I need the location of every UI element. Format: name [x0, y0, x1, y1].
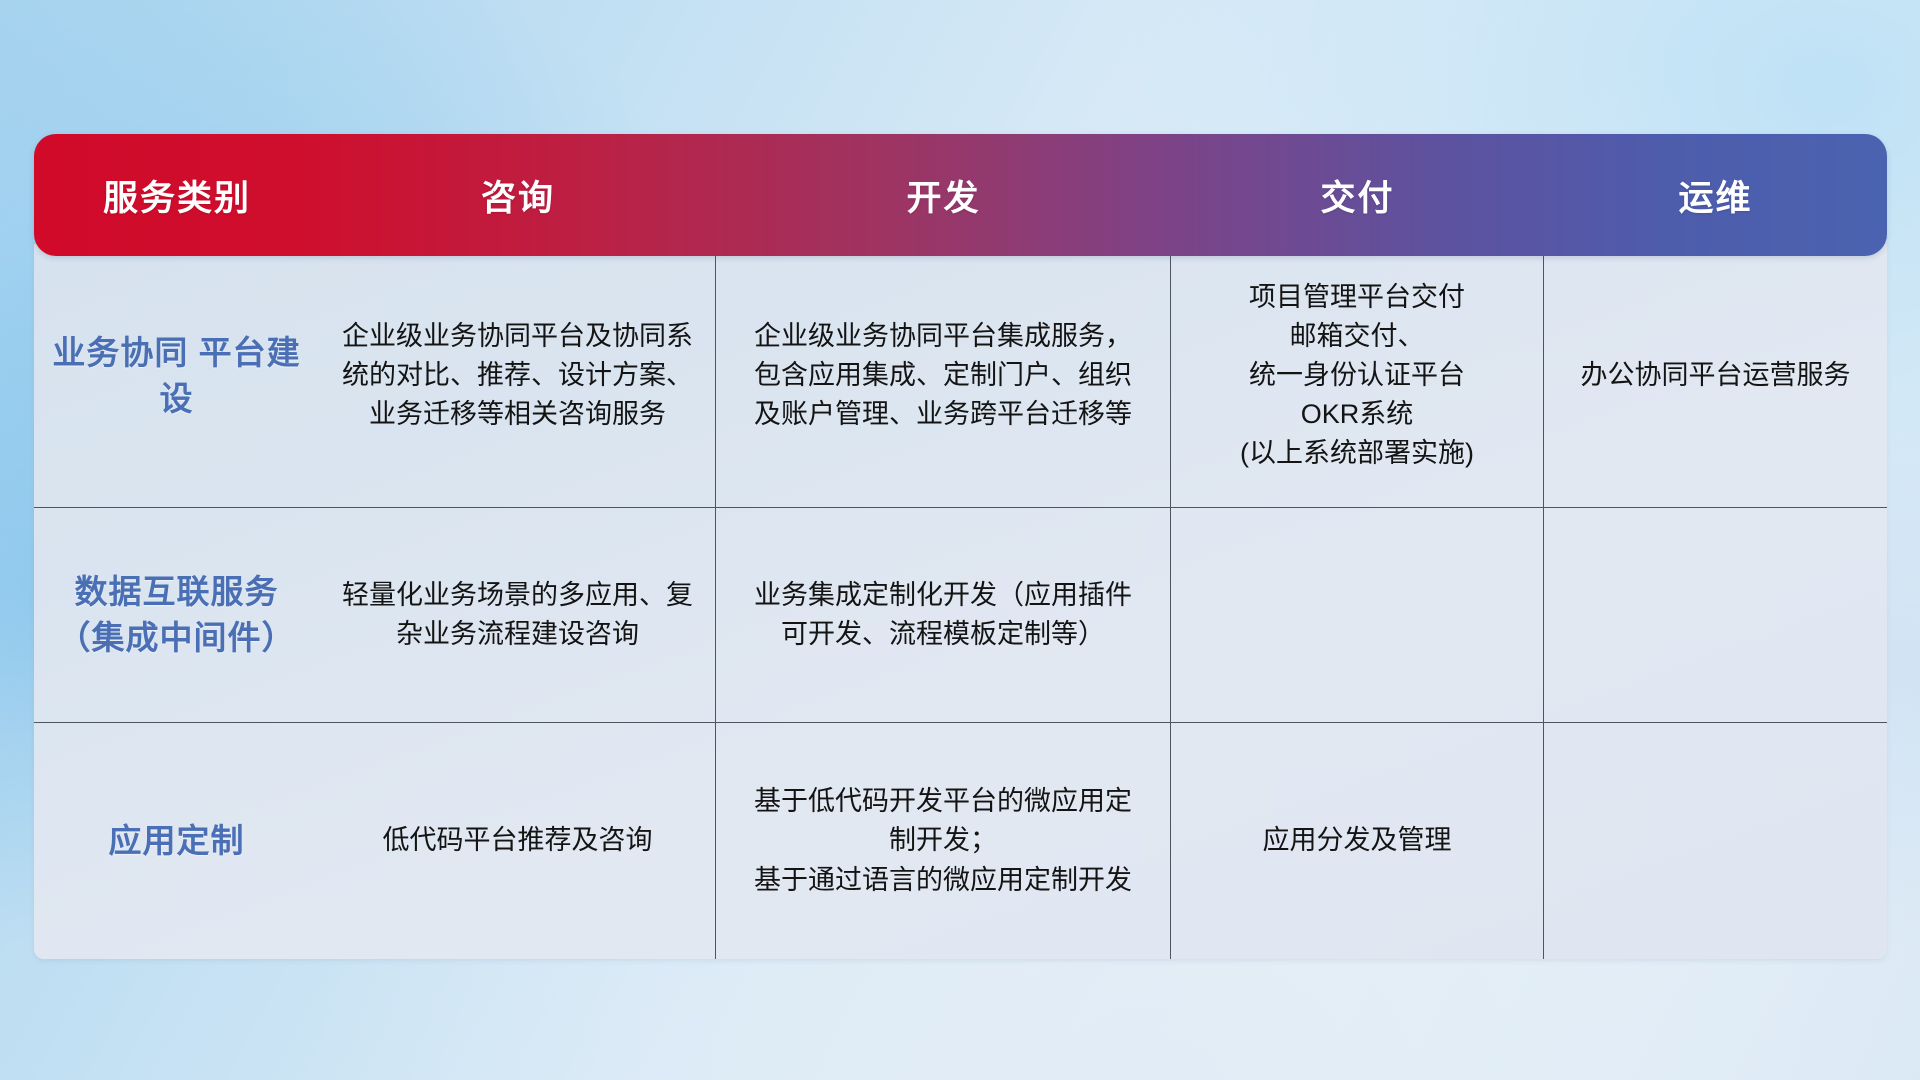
row-category-cell: 应用定制	[34, 723, 320, 959]
table-row: 业务协同 平台建设 企业级业务协同平台及协同系 统的对比、推荐、设计方案、 业务…	[34, 244, 1887, 508]
cell-consulting: 轻量化业务场景的多应用、复 杂业务流程建设咨询	[320, 508, 716, 722]
row-category-cell: 数据互联服务 （集成中间件）	[34, 508, 320, 722]
cell-text: 轻量化业务场景的多应用、复 杂业务流程建设咨询	[342, 576, 693, 654]
cell-delivery: 应用分发及管理	[1171, 723, 1544, 959]
row-category-label: 应用定制	[109, 818, 245, 864]
row-category-label: 业务协同 平台建设	[46, 330, 307, 421]
cell-text: 业务集成定制化开发（应用插件 可开发、流程模板定制等）	[754, 576, 1132, 654]
table-row: 数据互联服务 （集成中间件） 轻量化业务场景的多应用、复 杂业务流程建设咨询 业…	[34, 508, 1887, 723]
header-cell-consulting: 咨询	[320, 170, 716, 221]
cell-text: 应用分发及管理	[1263, 821, 1452, 860]
cell-text: 办公协同平台运营服务	[1581, 356, 1851, 395]
cell-consulting: 低代码平台推荐及咨询	[320, 723, 716, 959]
cell-delivery	[1171, 508, 1544, 722]
cell-delivery: 项目管理平台交付 邮箱交付、 统一身份认证平台 OKR系统 (以上系统部署实施)	[1171, 244, 1544, 507]
cell-operations	[1544, 723, 1887, 959]
table-body: 业务协同 平台建设 企业级业务协同平台及协同系 统的对比、推荐、设计方案、 业务…	[34, 244, 1887, 959]
header-cell-development: 开发	[716, 170, 1171, 221]
cell-text: 项目管理平台交付 邮箱交付、 统一身份认证平台 OKR系统 (以上系统部署实施)	[1240, 278, 1474, 474]
cell-text: 基于低代码开发平台的微应用定 制开发； 基于通过语言的微应用定制开发	[754, 782, 1132, 899]
cell-text: 低代码平台推荐及咨询	[383, 821, 653, 860]
table-row: 应用定制 低代码平台推荐及咨询 基于低代码开发平台的微应用定 制开发； 基于通过…	[34, 723, 1887, 959]
row-category-label: 数据互联服务 （集成中间件）	[46, 569, 307, 660]
table-header-row: 服务类别 咨询 开发 交付 运维	[34, 134, 1887, 256]
cell-development: 企业级业务协同平台集成服务， 包含应用集成、定制门户、组织 及账户管理、业务跨平…	[716, 244, 1171, 507]
header-cell-delivery: 交付	[1171, 170, 1544, 221]
cell-text: 企业级业务协同平台及协同系 统的对比、推荐、设计方案、 业务迁移等相关咨询服务	[342, 317, 693, 434]
header-cell-operations: 运维	[1544, 170, 1887, 221]
cell-operations: 办公协同平台运营服务	[1544, 244, 1887, 507]
cell-development: 业务集成定制化开发（应用插件 可开发、流程模板定制等）	[716, 508, 1171, 722]
row-category-cell: 业务协同 平台建设	[34, 244, 320, 507]
cell-operations	[1544, 508, 1887, 722]
header-cell-service-category: 服务类别	[34, 170, 320, 221]
cell-consulting: 企业级业务协同平台及协同系 统的对比、推荐、设计方案、 业务迁移等相关咨询服务	[320, 244, 716, 507]
cell-development: 基于低代码开发平台的微应用定 制开发； 基于通过语言的微应用定制开发	[716, 723, 1171, 959]
service-matrix-table: 服务类别 咨询 开发 交付 运维 业务协同 平台建设 企业级业务协同平台及协同系…	[34, 134, 1887, 959]
cell-text: 企业级业务协同平台集成服务， 包含应用集成、定制门户、组织 及账户管理、业务跨平…	[754, 317, 1132, 434]
